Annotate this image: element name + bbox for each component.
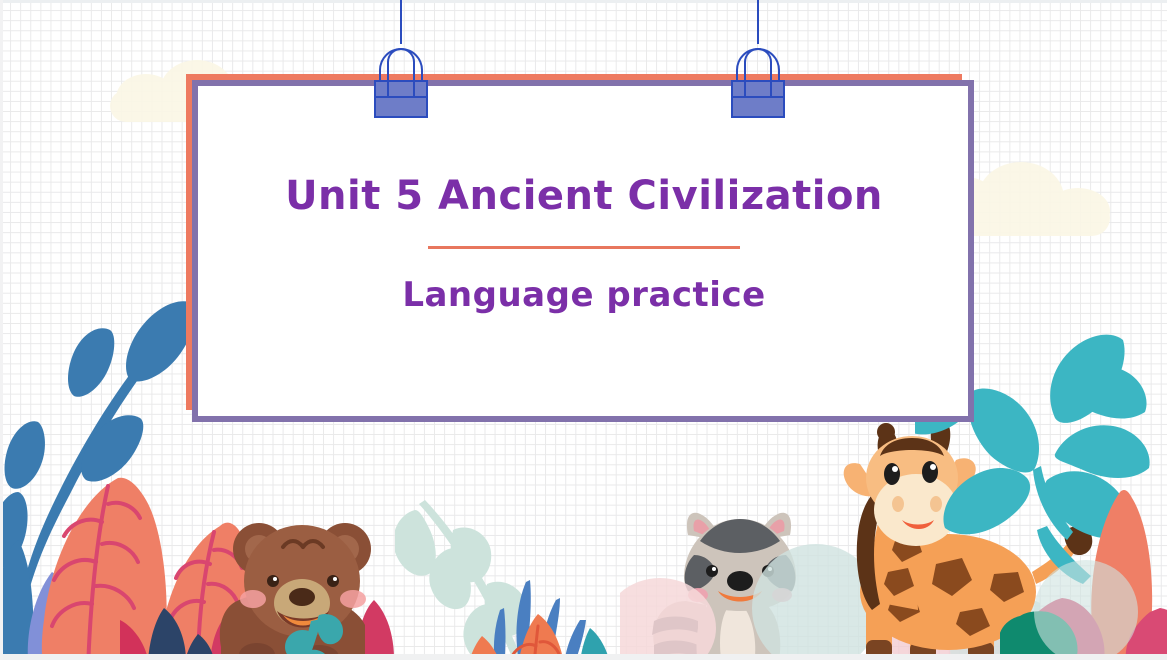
page-title: Unit 5 Ancient Civilization: [285, 174, 883, 218]
title-divider: [428, 246, 740, 249]
clip-slot-left-icon: [744, 80, 746, 98]
slide-canvas: Unit 5 Ancient Civilization Language pra…: [0, 0, 1167, 660]
title-card-content: Unit 5 Ancient Civilization Language pra…: [199, 86, 969, 416]
page-edge-top: [0, 0, 1167, 3]
clip-slot-right-icon: [413, 80, 415, 98]
page-edge-left: [0, 0, 3, 660]
clip-body-bottom-icon: [374, 96, 428, 118]
clip-cord-icon: [757, 0, 759, 44]
clip-handle-inner-icon: [387, 48, 415, 82]
clip-body-bottom-icon: [731, 96, 785, 118]
clip-slot-right-icon: [770, 80, 772, 98]
page-subtitle: Language practice: [402, 275, 765, 315]
clip-slot-left-icon: [387, 80, 389, 98]
clip-cord-icon: [400, 0, 402, 44]
clip-handle-inner-icon: [744, 48, 772, 82]
page-edge-bottom: [0, 654, 1167, 660]
